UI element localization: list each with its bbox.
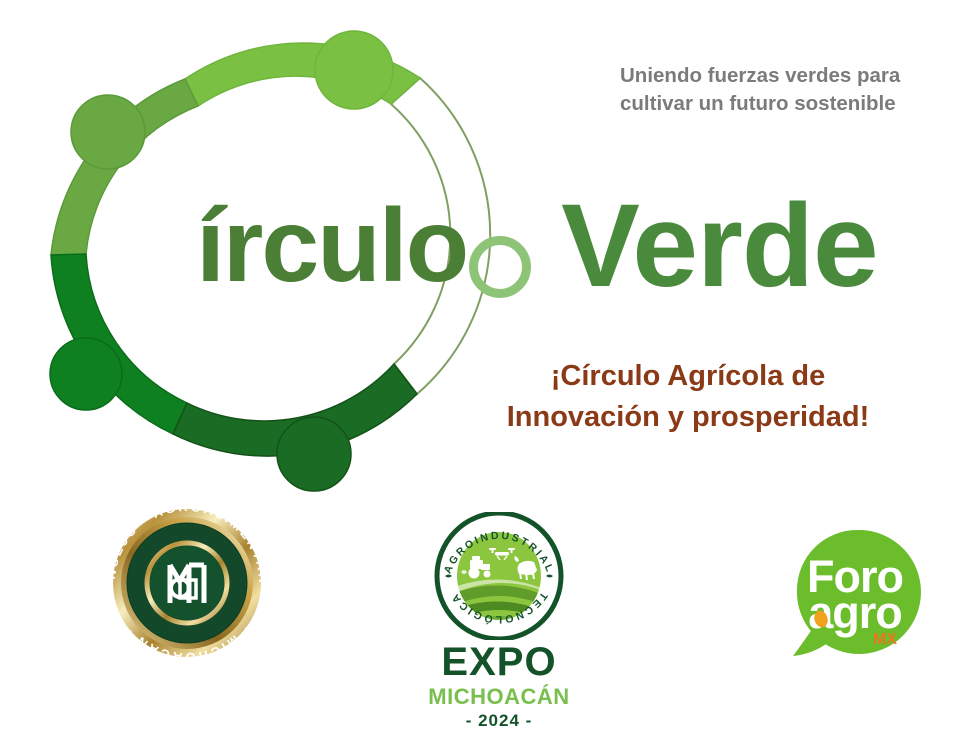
logo-dot-top-right xyxy=(315,31,393,109)
expo-year: - 2024 - xyxy=(423,711,575,731)
wordmark-irculo: írculo xyxy=(196,194,467,298)
logo-dot-top-left xyxy=(71,95,145,169)
expo-word: EXPO xyxy=(423,642,575,682)
wordmark-o-ring xyxy=(469,236,531,298)
subtitle: ¡Círculo Agrícola de Innovación y prospe… xyxy=(462,356,914,438)
partner-logo-foro-agro-mx: Foro agro MX xyxy=(781,524,933,664)
subtitle-line-1: ¡Círculo Agrícola de xyxy=(462,356,914,397)
logo-dot-bottom-right xyxy=(277,417,351,491)
subtitle-line-2: Innovación y prosperidad! xyxy=(462,397,914,438)
expo-badge-svg: AGROINDUSTRIAL TECNOLÓGICA xyxy=(423,512,575,640)
expo-state: MICHOACÁN xyxy=(423,685,575,709)
partner-logo-consejo-agroalimentario-michoacan: CONSEJO · AGROALIMENTARIO · MICHOACAN · xyxy=(82,508,292,658)
tagline-line-1: Uniendo fuerzas verdes para xyxy=(620,62,920,90)
partner-logo-expo-michoacan-2024: AGROINDUSTRIAL TECNOLÓGICA EXPO MICHOACÁ… xyxy=(423,512,575,717)
wordmark-verde: Verde xyxy=(561,187,877,305)
seal-svg: CONSEJO · AGROALIMENTARIO · MICHOACAN · xyxy=(82,508,292,658)
tagline-line-2: cultivar un futuro sostenible xyxy=(620,90,920,118)
brand-wordmark: írculo Verde xyxy=(196,186,878,306)
tagline: Uniendo fuerzas verdes para cultivar un … xyxy=(620,62,920,119)
expo-badge: AGROINDUSTRIAL TECNOLÓGICA xyxy=(423,512,575,640)
foroagro-suffix-mx: MX xyxy=(873,631,897,648)
partner-logos-row: CONSEJO · AGROALIMENTARIO · MICHOACAN · xyxy=(0,500,960,720)
foroagro-svg: Foro agro MX xyxy=(781,524,933,664)
logo-dot-bottom-left xyxy=(50,338,122,410)
